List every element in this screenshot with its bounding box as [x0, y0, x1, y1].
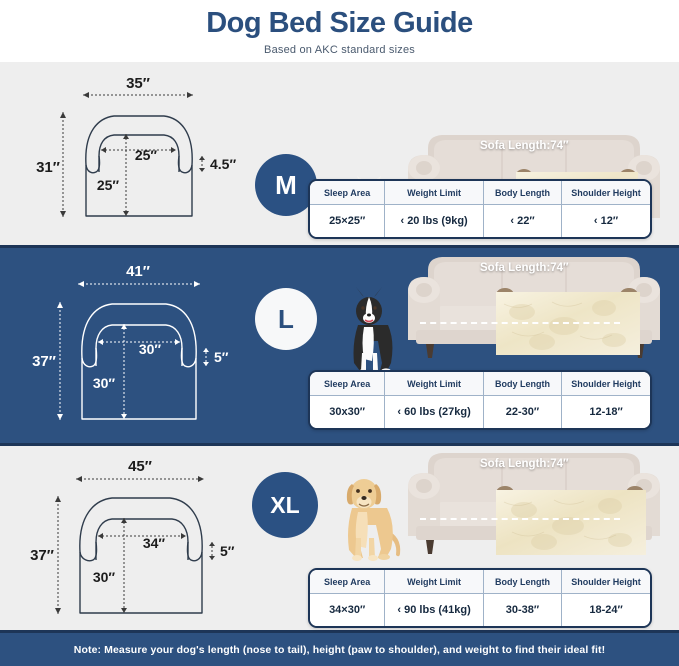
cell-weight-limit: ‹ 60 lbs (27kg) — [385, 396, 484, 429]
dim-bolster-m: 4.5″ — [210, 156, 236, 172]
size-badge-label: XL — [270, 494, 299, 517]
border-collie-dog — [340, 285, 398, 377]
spec-table-l: Sleep Area Weight Limit Body Length Shou… — [308, 370, 652, 430]
cell-body-length: 30-38″ — [483, 594, 561, 627]
table-row: 30x30″ ‹ 60 lbs (27kg) 22-30″ 12-18″ — [310, 396, 650, 429]
dim-height-l: 37″ — [32, 353, 56, 370]
cell-body-length: ‹ 22″ — [483, 205, 561, 238]
col-body-length: Body Length — [483, 570, 561, 594]
size-badge-label: M — [275, 172, 297, 198]
size-row-l: 41″ 37″ — [0, 248, 679, 443]
sofa-length-label-l: Sofa Length:74″ — [480, 262, 569, 274]
sofa-length-label-xl: Sofa Length:74″ — [480, 458, 569, 470]
col-body-length: Body Length — [483, 372, 561, 396]
dim-inner-width-xl: 34″ — [143, 535, 166, 551]
col-weight-limit: Weight Limit — [385, 570, 484, 594]
dim-bolster-l: 5″ — [214, 349, 229, 365]
dim-width-l: 41″ — [126, 263, 150, 280]
cell-weight-limit: ‹ 90 lbs (41kg) — [385, 594, 484, 627]
dim-inner-height-xl: 30″ — [93, 569, 116, 585]
header: Dog Bed Size Guide Based on AKC standard… — [0, 0, 679, 62]
dog-bed-cover-xl — [496, 486, 646, 556]
cell-weight-limit: ‹ 20 lbs (9kg) — [385, 205, 484, 238]
col-weight-limit: Weight Limit — [385, 372, 484, 396]
cell-shoulder-height: 18-24″ — [562, 594, 650, 627]
dim-inner-width-l: 30″ — [139, 341, 162, 357]
sofa-length-dashline-xl — [420, 518, 620, 520]
table-header-row: Sleep Area Weight Limit Body Length Shou… — [310, 372, 650, 396]
cell-sleep-area: 25×25″ — [310, 205, 385, 238]
table-row: 25×25″ ‹ 20 lbs (9kg) ‹ 22″ ‹ 12″ — [310, 205, 650, 238]
size-badge-label: L — [278, 306, 294, 332]
dim-bolster-xl: 5″ — [220, 543, 235, 559]
dim-width-m: 35″ — [126, 75, 150, 92]
size-row-xl: 45″ 37″ — [0, 446, 679, 633]
size-badge-l: L — [255, 288, 317, 350]
dim-height-xl: 37″ — [30, 547, 54, 564]
col-weight-limit: Weight Limit — [385, 181, 484, 205]
size-badge-xl: XL — [252, 472, 318, 538]
table-header-row: Sleep Area Weight Limit Body Length Shou… — [310, 181, 650, 205]
cell-body-length: 22-30″ — [483, 396, 561, 429]
sofa-scene-xl: Sofa Length:74″ — [404, 442, 664, 560]
bed-diagram-l: 41″ 37″ — [28, 248, 243, 443]
sofa-length-dashline-l — [420, 322, 620, 324]
dim-inner-width-m: 25″ — [135, 147, 158, 163]
col-shoulder-height: Shoulder Height — [562, 181, 650, 205]
page-subtitle: Based on AKC standard sizes — [0, 44, 679, 56]
col-sleep-area: Sleep Area — [310, 372, 385, 396]
col-shoulder-height: Shoulder Height — [562, 372, 650, 396]
spec-table-xl: Sleep Area Weight Limit Body Length Shou… — [308, 568, 652, 628]
page-title: Dog Bed Size Guide — [0, 8, 679, 38]
bed-diagram-m: 35″ 31″ — [28, 62, 243, 245]
dim-inner-height-l: 30″ — [93, 375, 116, 391]
dim-width-xl: 45″ — [128, 458, 152, 475]
golden-retriever-dog — [336, 466, 406, 562]
col-body-length: Body Length — [483, 181, 561, 205]
footer-note-text: Note: Measure your dog's length (nose to… — [74, 644, 605, 656]
col-sleep-area: Sleep Area — [310, 181, 385, 205]
dim-height-m: 31″ — [36, 159, 60, 176]
size-row-m: 35″ 31″ — [0, 62, 679, 245]
dim-inner-height-m: 25″ — [97, 177, 120, 193]
infographic-page: Dog Bed Size Guide Based on AKC standard… — [0, 0, 679, 666]
cell-shoulder-height: 12-18″ — [562, 396, 650, 429]
sofa-length-label-m: Sofa Length:74″ — [480, 140, 569, 152]
cell-shoulder-height: ‹ 12″ — [562, 205, 650, 238]
footer-note-bar: Note: Measure your dog's length (nose to… — [0, 630, 679, 666]
sofa-scene-l: Sofa Length:74″ — [404, 246, 664, 364]
table-row: 34×30″ ‹ 90 lbs (41kg) 30-38″ 18-24″ — [310, 594, 650, 627]
col-sleep-area: Sleep Area — [310, 570, 385, 594]
col-shoulder-height: Shoulder Height — [562, 570, 650, 594]
table-header-row: Sleep Area Weight Limit Body Length Shou… — [310, 570, 650, 594]
cell-sleep-area: 34×30″ — [310, 594, 385, 627]
cell-sleep-area: 30x30″ — [310, 396, 385, 429]
bed-diagram-xl: 45″ 37″ — [28, 446, 243, 633]
spec-table-m: Sleep Area Weight Limit Body Length Shou… — [308, 179, 652, 239]
